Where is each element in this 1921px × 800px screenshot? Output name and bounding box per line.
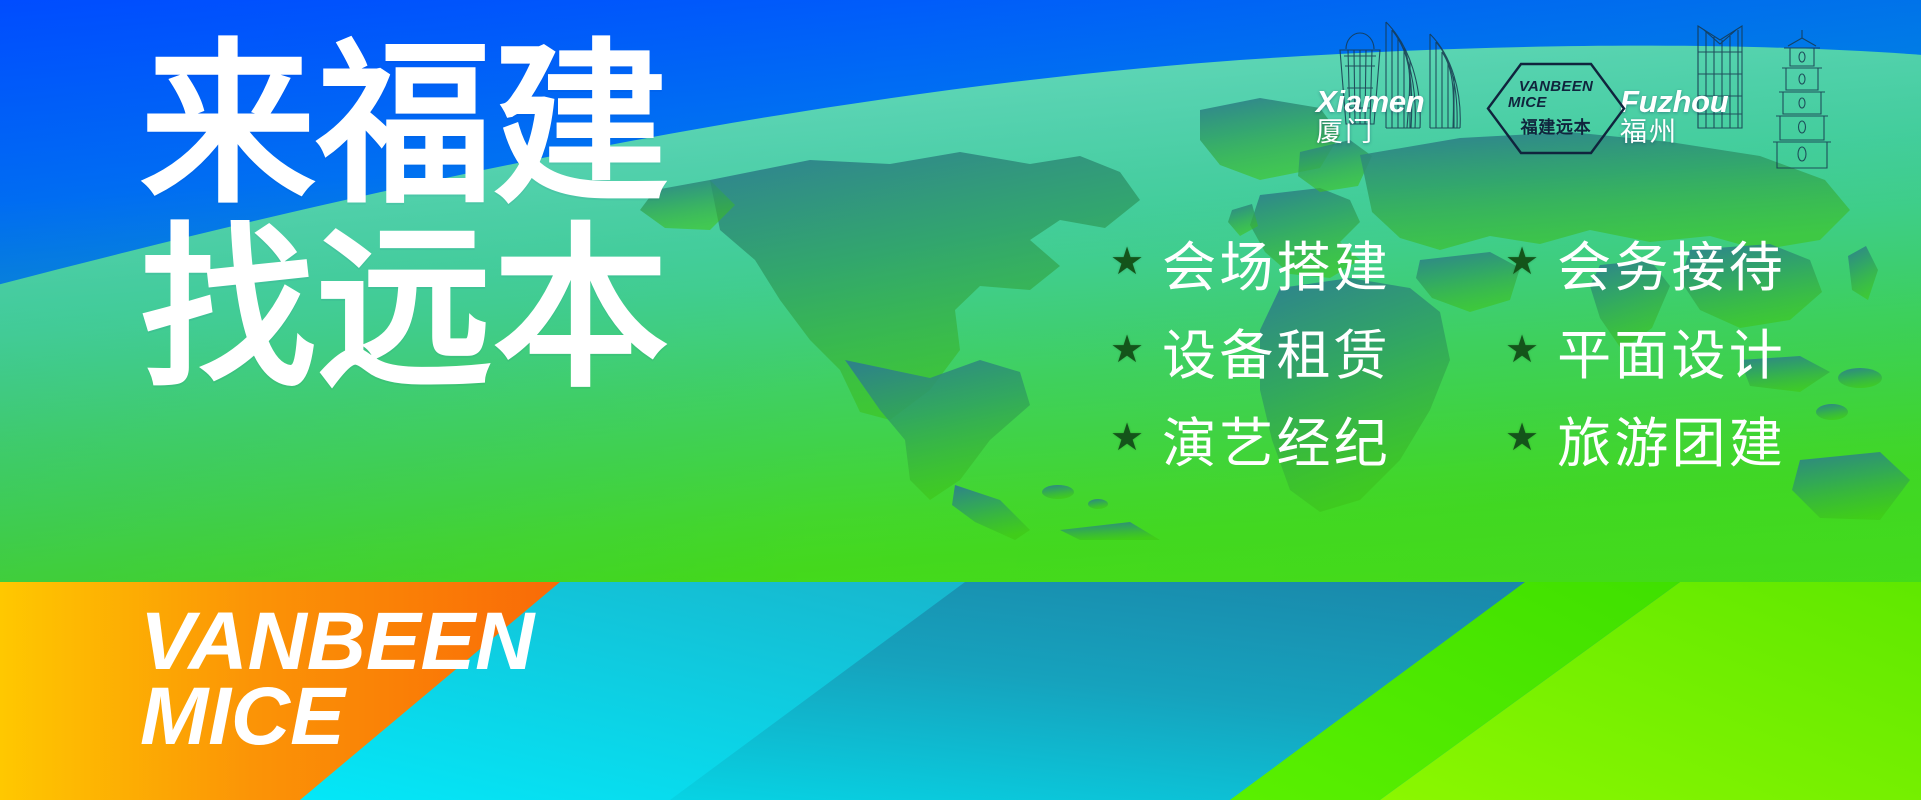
service-item: ★ 设备租赁 [1110,311,1505,390]
service-label: 演艺经纪 [1162,399,1391,478]
headline-line-1: 来福建 [140,40,740,212]
hexagon-logo-line-1: VANBEEN [1519,79,1593,94]
services-row: ★ 演艺经纪 ★ 旅游团建 [1110,394,1900,482]
star-icon: ★ [1110,419,1144,457]
service-label: 会场搭建 [1162,223,1391,302]
service-label: 平面设计 [1557,311,1786,390]
bottom-brand-band: VANBEEN MICE [0,582,1921,800]
headline-line-2: 找远本 [140,224,740,396]
brand-line-1: VANBEEN [140,604,534,679]
city-name-cn: 厦门 [1316,117,1424,148]
hexagon-logo-line-3: 福建远本 [1521,113,1592,138]
service-item: ★ 平面设计 [1505,311,1900,390]
city-label-fuzhou: Fuzhou 福州 [1620,86,1728,148]
service-item: ★ 演艺经纪 [1110,399,1505,478]
city-landmarks-block: Xiamen 厦门 Fuzhou 福州 VANBEEN MICE 福建远本 [1300,4,1920,179]
service-label: 旅游团建 [1557,399,1786,478]
city-label-xiamen: Xiamen 厦门 [1316,86,1424,148]
star-icon: ★ [1110,243,1144,281]
vanbeen-hexagon-logo: VANBEEN MICE 福建远本 [1486,62,1626,155]
hexagon-logo-line-2: MICE [1508,95,1547,110]
city-name-en: Fuzhou [1620,86,1728,117]
hexagon-logo-text: VANBEEN MICE 福建远本 [1486,62,1626,155]
services-row: ★ 会场搭建 ★ 会务接待 [1110,218,1900,306]
service-item: ★ 旅游团建 [1505,399,1900,478]
city-name-en: Xiamen [1316,86,1424,117]
star-icon: ★ [1110,331,1144,369]
brand-line-2: MICE [140,679,534,754]
service-item: ★ 会务接待 [1505,223,1900,302]
services-list: ★ 会场搭建 ★ 会务接待 ★ 设备租赁 ★ 平面设计 ★ 演艺经纪 [1110,218,1900,482]
brand-wordmark: VANBEEN MICE [140,604,534,755]
promotional-banner: 来福建 找远本 ★ 会场搭建 ★ 会务接待 ★ 设备租赁 ★ 平面设计 [0,0,1921,800]
page-title: 来福建 找远本 [140,40,740,397]
star-icon: ★ [1505,331,1539,369]
star-icon: ★ [1505,419,1539,457]
service-label: 会务接待 [1557,223,1786,302]
services-row: ★ 设备租赁 ★ 平面设计 [1110,306,1900,394]
service-item: ★ 会场搭建 [1110,223,1505,302]
service-label: 设备租赁 [1162,311,1391,390]
star-icon: ★ [1505,243,1539,281]
city-name-cn: 福州 [1620,117,1728,148]
